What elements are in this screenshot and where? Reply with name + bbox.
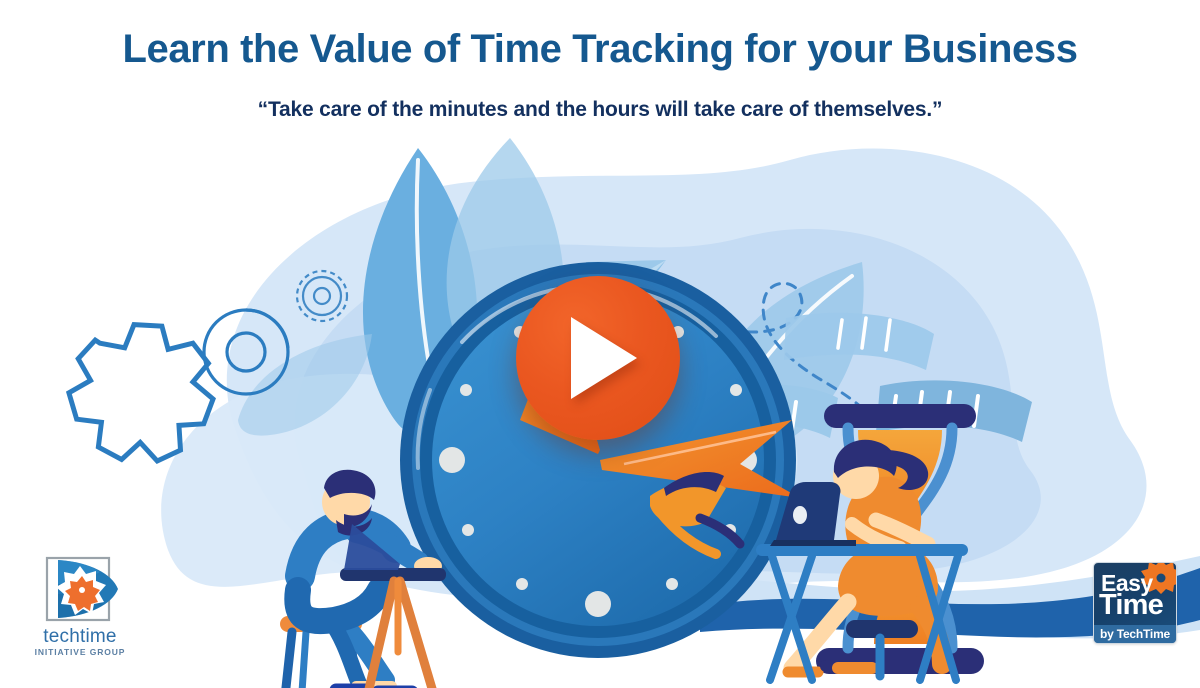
page-title: Learn the Value of Time Tracking for you… [0,26,1200,72]
easytime-logo[interactable]: Easy Time by TechTime [1093,562,1177,644]
banner-canvas: Learn the Value of Time Tracking for you… [0,0,1200,688]
techtime-logo-tagline: INITIATIVE GROUP [28,647,132,657]
easytime-logo-line2: Time [1099,591,1163,620]
techtime-logo[interactable]: techtime INITIATIVE GROUP [28,556,132,668]
play-icon [571,317,637,399]
easytime-logo-byline: by TechTime [1094,625,1176,643]
play-video-button[interactable] [516,276,680,440]
techtime-logo-name: techtime [28,626,132,647]
